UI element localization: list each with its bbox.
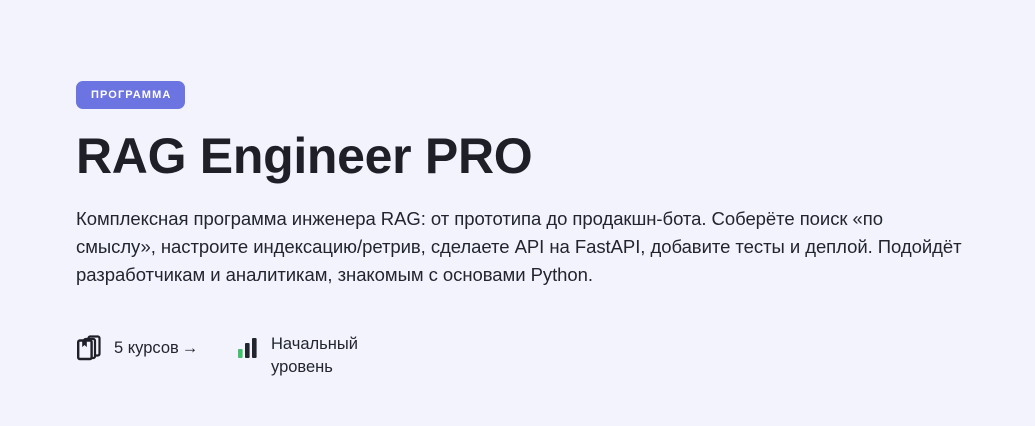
program-meta-row: 5 курсов→ Начальный уровень (76, 333, 1035, 379)
meta-courses-label: 5 курсов→ (114, 333, 198, 360)
level-bars-icon (237, 337, 259, 363)
program-hero: ПРОГРАММА RAG Engineer PRO Комплексная п… (0, 0, 1035, 426)
arrow-right-icon: → (182, 339, 199, 357)
meta-item-courses[interactable]: 5 курсов→ (76, 333, 237, 362)
books-icon (76, 334, 102, 362)
meta-level-label: Начальный уровень (271, 333, 381, 379)
meta-item-level: Начальный уровень (237, 333, 381, 379)
page-title: RAG Engineer PRO (76, 129, 1035, 183)
program-badge: ПРОГРАММА (76, 81, 185, 109)
program-description: Комплексная программа инженера RAG: от п… (76, 205, 964, 289)
meta-courses-count: 5 курсов (114, 339, 179, 357)
